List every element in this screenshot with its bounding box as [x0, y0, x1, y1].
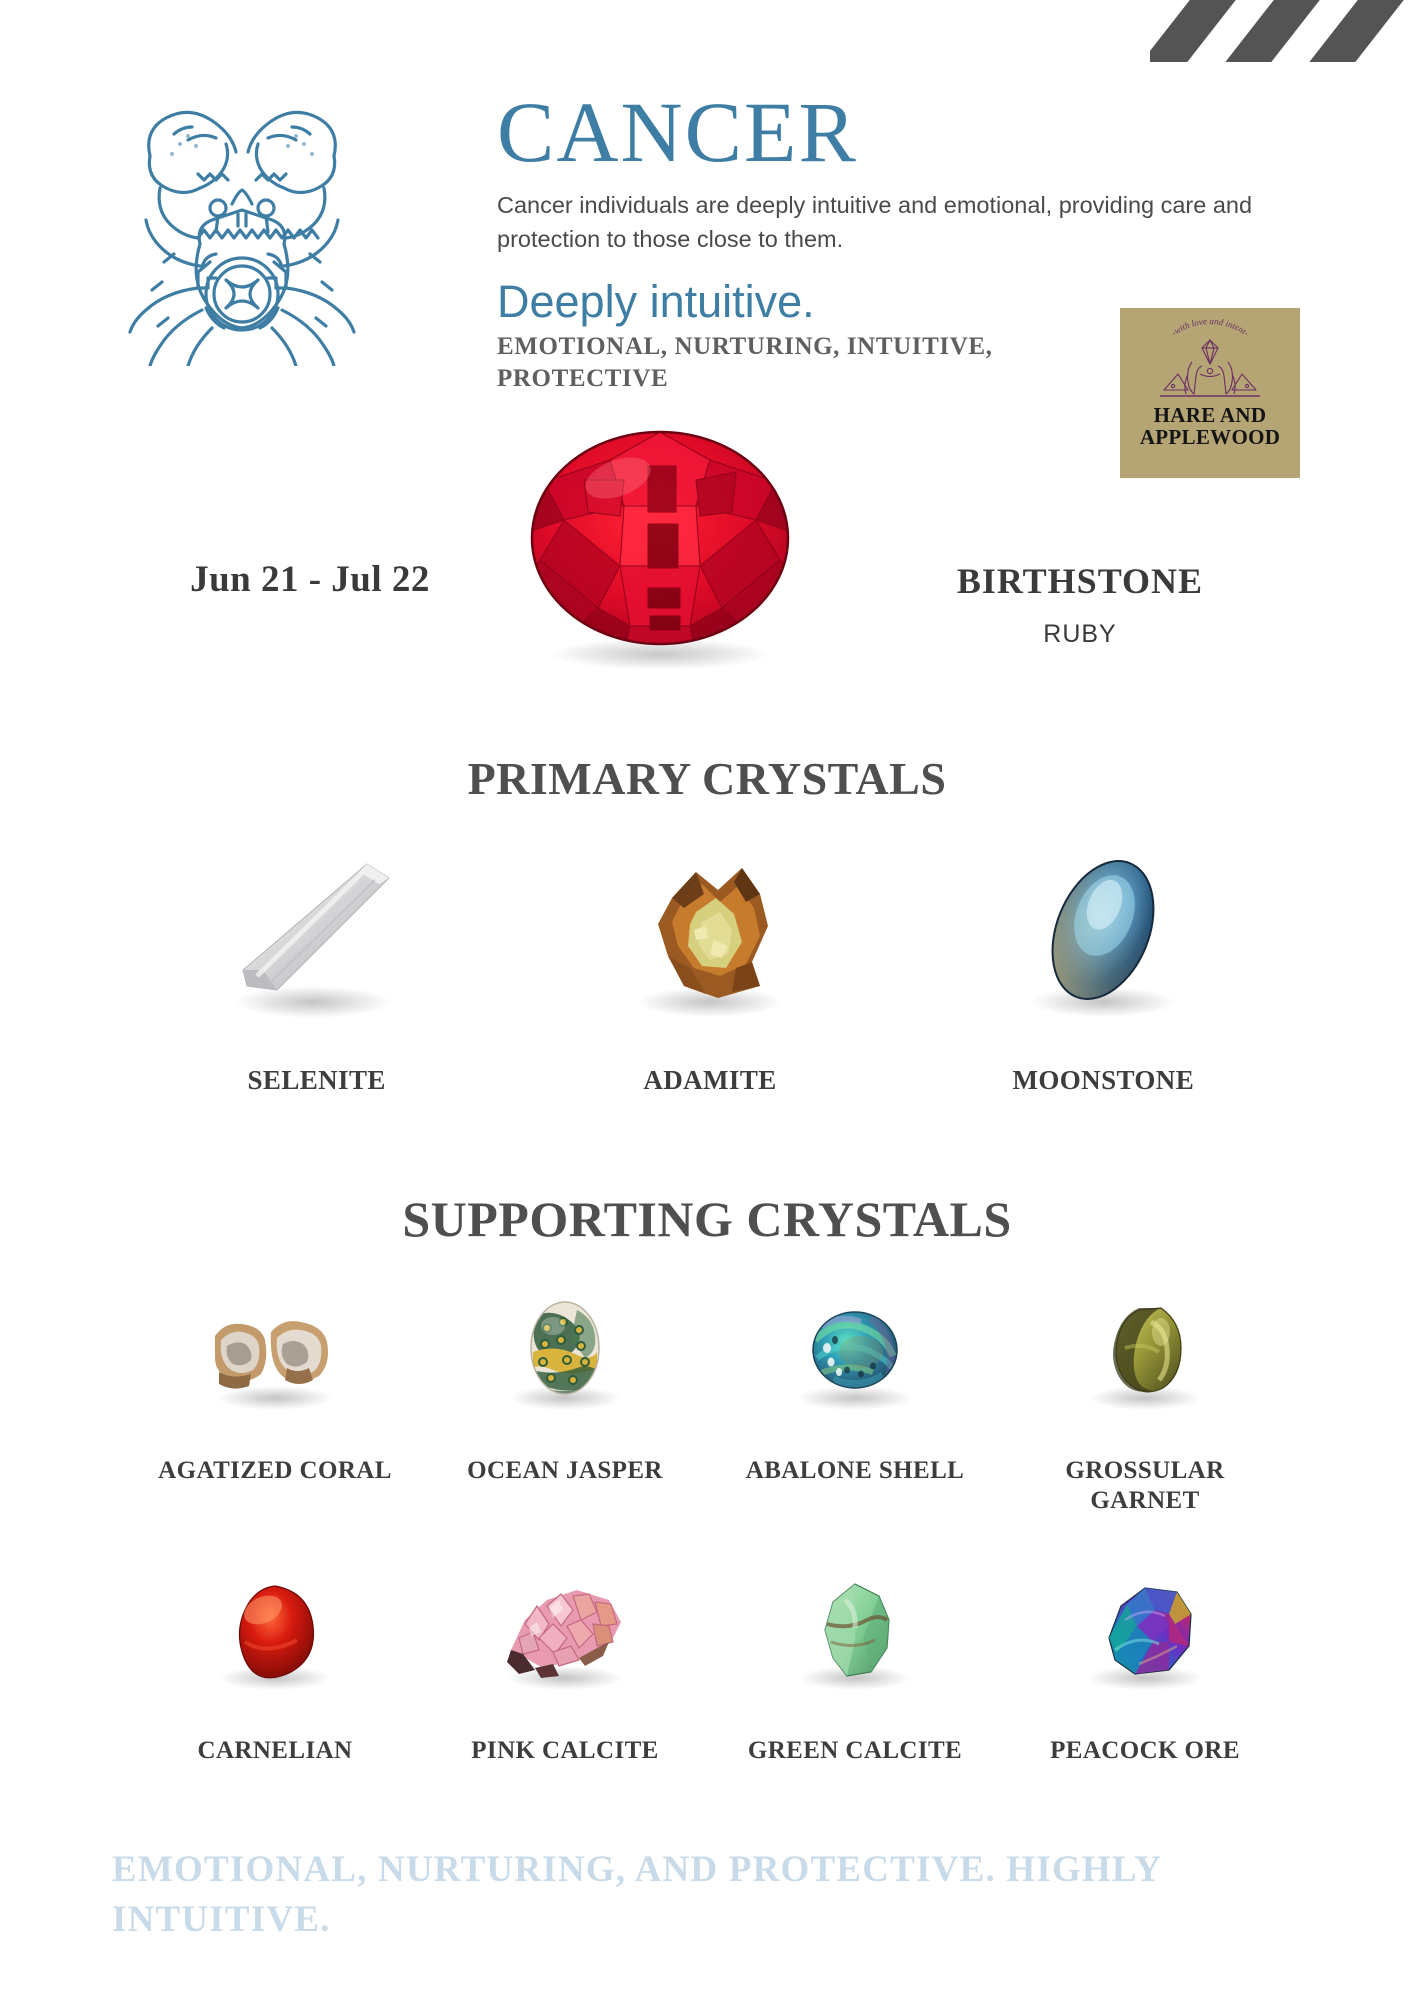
- crystal-item: SELENITE: [167, 850, 467, 1096]
- crystal-label: PEACOCK ORE: [1050, 1736, 1240, 1766]
- crystal-item: AGATIZED CORAL: [150, 1300, 400, 1516]
- crystal-label: GREEN CALCITE: [748, 1736, 962, 1766]
- footer-affirmation: EMOTIONAL, NURTURING, AND PROTECTIVE. HI…: [112, 1845, 1302, 1945]
- pink-calcite-icon: [480, 1580, 650, 1690]
- hands-holding-gem-icon: -with love and intent-: [1144, 316, 1276, 408]
- ocean-jasper-icon: [480, 1300, 650, 1410]
- primary-crystals-grid: SELENITE: [120, 850, 1300, 1096]
- crystal-label: GROSSULAR GARNET: [1020, 1456, 1270, 1516]
- birthstone-label: BIRTHSTONE: [905, 560, 1255, 602]
- supporting-crystals-heading: SUPPORTING CRYSTALS: [0, 1190, 1414, 1248]
- brand-logo: -with love and intent- HARE AND: [1120, 308, 1300, 478]
- footer-line-1: EMOTIONAL, NURTURING, AND PROTECTIVE. HI…: [112, 1845, 1302, 1895]
- date-range: Jun 21 - Jul 22: [150, 558, 470, 601]
- green-calcite-icon: [770, 1580, 940, 1690]
- peacock-ore-icon: [1060, 1580, 1230, 1690]
- crystal-item: PEACOCK ORE: [1020, 1580, 1270, 1766]
- abalone-shell-icon: [770, 1300, 940, 1410]
- crystal-item: GREEN CALCITE: [730, 1580, 980, 1766]
- oval-ruby-gem-icon: [500, 420, 820, 680]
- adamite-cluster-icon: [590, 850, 830, 1020]
- grossular-garnet-icon: [1060, 1300, 1230, 1410]
- birthstone-name: RUBY: [905, 620, 1255, 649]
- poster-canvas: CANCER Cancer individuals are deeply int…: [0, 0, 1414, 2000]
- crystal-item: OCEAN JASPER: [440, 1300, 690, 1516]
- crystal-item: GROSSULAR GARNET: [1020, 1300, 1270, 1516]
- selenite-blade-icon: [197, 850, 437, 1020]
- crystal-label: OCEAN JASPER: [467, 1456, 663, 1486]
- brand-name-line-2: APPLEWOOD: [1140, 426, 1280, 448]
- supporting-crystals-row-2: CARNELIAN: [150, 1580, 1270, 1766]
- crystal-item: ADAMITE: [560, 850, 860, 1096]
- carnelian-icon: [190, 1580, 360, 1690]
- crystal-label: SELENITE: [248, 1064, 386, 1096]
- agatized-coral-icon: [190, 1300, 360, 1410]
- crystal-label: CARNELIAN: [197, 1736, 352, 1766]
- crystal-label: ADAMITE: [643, 1064, 776, 1096]
- crystal-item: PINK CALCITE: [440, 1580, 690, 1766]
- supporting-crystals-row-1: AGATIZED CORAL: [150, 1300, 1270, 1516]
- diagonal-stripes-decoration: [1150, 0, 1414, 62]
- crystal-item: CARNELIAN: [150, 1580, 400, 1766]
- crystal-label: MOONSTONE: [1012, 1064, 1194, 1096]
- brand-name-line-1: HARE AND: [1140, 404, 1280, 426]
- brand-name: HARE AND APPLEWOOD: [1140, 404, 1280, 449]
- crystal-label: PINK CALCITE: [471, 1736, 658, 1766]
- primary-crystals-heading: PRIMARY CRYSTALS: [0, 752, 1414, 805]
- page-title: CANCER: [497, 92, 1307, 174]
- crab-icon: [88, 96, 396, 366]
- svg-text:-with love and intent-: -with love and intent-: [1169, 316, 1251, 338]
- footer-line-2: INTUITIVE.: [112, 1895, 1302, 1945]
- crystal-item: MOONSTONE: [953, 850, 1253, 1096]
- crystal-label: ABALONE SHELL: [746, 1456, 964, 1486]
- moonstone-cabochon-icon: [983, 850, 1223, 1020]
- sign-keywords: EMOTIONAL, NURTURING, INTUITIVE, PROTECT…: [497, 331, 1057, 395]
- crystal-label: AGATIZED CORAL: [158, 1456, 392, 1486]
- crystal-item: ABALONE SHELL: [730, 1300, 980, 1516]
- sign-description: Cancer individuals are deeply intuitive …: [497, 188, 1297, 256]
